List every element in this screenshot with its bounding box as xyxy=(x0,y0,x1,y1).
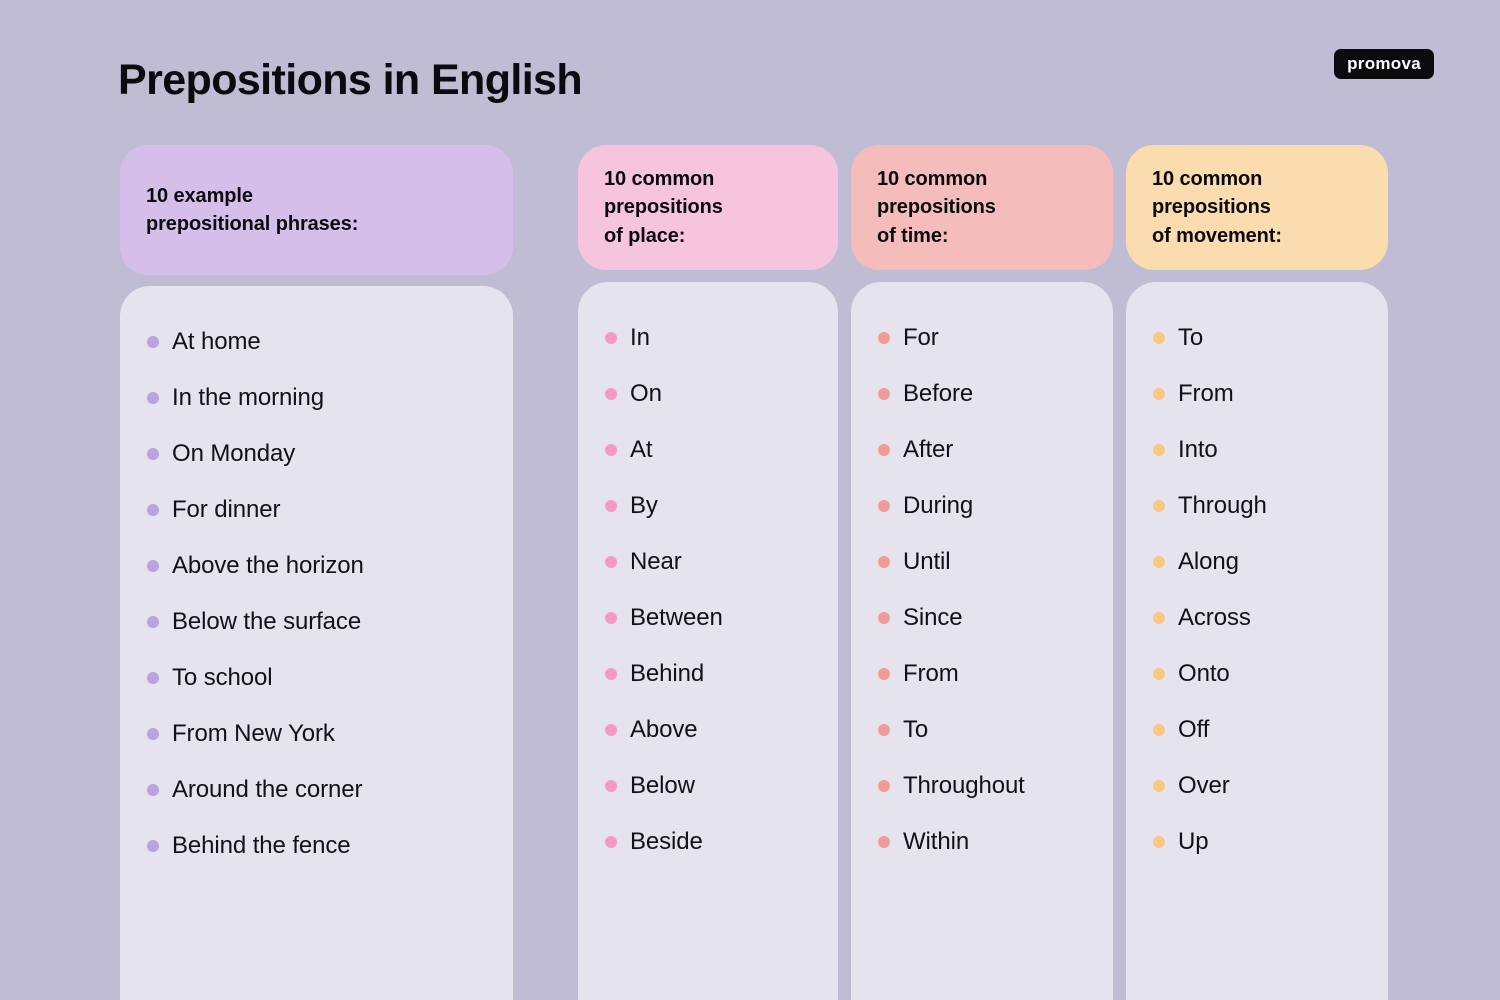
list-item-label: To xyxy=(1178,326,1203,350)
list-item: For xyxy=(851,310,1113,366)
bullet-icon xyxy=(605,332,617,344)
bullet-icon xyxy=(878,444,890,456)
list-item-label: Into xyxy=(1178,438,1218,462)
bullet-icon xyxy=(878,668,890,680)
bullet-icon xyxy=(147,504,159,516)
list-item: Near xyxy=(578,534,838,590)
bullet-icon xyxy=(147,560,159,572)
list-item: Behind xyxy=(578,646,838,702)
list-item: Until xyxy=(851,534,1113,590)
list-item: Above the horizon xyxy=(120,538,513,594)
bullet-icon xyxy=(147,672,159,684)
bullet-icon xyxy=(1153,836,1165,848)
list-item-label: By xyxy=(630,494,658,518)
list-item: From New York xyxy=(120,706,513,762)
list-item-label: Throughout xyxy=(903,774,1025,798)
list-item: Between xyxy=(578,590,838,646)
list-item-label: Until xyxy=(903,550,951,574)
list-item: Off xyxy=(1126,702,1388,758)
list-item-label: Up xyxy=(1178,830,1208,854)
list-item-label: In the morning xyxy=(172,386,324,410)
bullet-icon xyxy=(147,728,159,740)
column-header-card-3: 10 common prepositions of movement: xyxy=(1126,145,1388,270)
bullet-icon xyxy=(1153,388,1165,400)
bullet-icon xyxy=(605,500,617,512)
column-body-card-0: At homeIn the morningOn MondayFor dinner… xyxy=(120,286,513,1000)
bullet-icon xyxy=(605,388,617,400)
infographic-page: Prepositions in English promova 10 examp… xyxy=(0,0,1500,1000)
list-item: During xyxy=(851,478,1113,534)
bullet-icon xyxy=(1153,724,1165,736)
bullet-icon xyxy=(878,836,890,848)
list-item: To school xyxy=(120,650,513,706)
bullet-icon xyxy=(1153,332,1165,344)
preposition-list-2: ForBeforeAfterDuringUntilSinceFromToThro… xyxy=(851,310,1113,870)
list-item-label: Below xyxy=(630,774,695,798)
list-item-label: Since xyxy=(903,606,963,630)
bullet-icon xyxy=(605,668,617,680)
list-item: Around the corner xyxy=(120,762,513,818)
column-body-card-2: ForBeforeAfterDuringUntilSinceFromToThro… xyxy=(851,282,1113,1000)
column-header-card-2: 10 common prepositions of time: xyxy=(851,145,1113,270)
bullet-icon xyxy=(147,336,159,348)
list-item-label: At xyxy=(630,438,652,462)
list-item-label: Beside xyxy=(630,830,703,854)
list-item-label: Above the horizon xyxy=(172,554,364,578)
list-item: Into xyxy=(1126,422,1388,478)
list-item-label: Over xyxy=(1178,774,1230,798)
list-item: To xyxy=(1126,310,1388,366)
list-item-label: From xyxy=(903,662,959,686)
bullet-icon xyxy=(605,444,617,456)
bullet-icon xyxy=(878,388,890,400)
list-item-label: From New York xyxy=(172,722,335,746)
page-title: Prepositions in English xyxy=(118,56,582,105)
list-item-label: Near xyxy=(630,550,682,574)
list-item: Over xyxy=(1126,758,1388,814)
column-heading-1: 10 common prepositions of place: xyxy=(578,165,737,250)
bullet-icon xyxy=(147,616,159,628)
list-item: After xyxy=(851,422,1113,478)
list-item-label: Before xyxy=(903,382,973,406)
list-item: Below the surface xyxy=(120,594,513,650)
list-item-label: Above xyxy=(630,718,698,742)
list-item-label: Between xyxy=(630,606,723,630)
list-item-label: Onto xyxy=(1178,662,1230,686)
bullet-icon xyxy=(605,780,617,792)
list-item-label: Behind xyxy=(630,662,704,686)
preposition-list-0: At homeIn the morningOn MondayFor dinner… xyxy=(120,314,513,874)
preposition-list-3: ToFromIntoThroughAlongAcrossOntoOffOverU… xyxy=(1126,310,1388,870)
preposition-list-1: InOnAtByNearBetweenBehindAboveBelowBesid… xyxy=(578,310,838,870)
list-item: Through xyxy=(1126,478,1388,534)
list-item: Beside xyxy=(578,814,838,870)
list-item-label: Across xyxy=(1178,606,1251,630)
list-item: From xyxy=(851,646,1113,702)
list-item-label: On Monday xyxy=(172,442,295,466)
bullet-icon xyxy=(1153,668,1165,680)
bullet-icon xyxy=(1153,556,1165,568)
list-item-label: To school xyxy=(172,666,273,690)
column-body-card-3: ToFromIntoThroughAlongAcrossOntoOffOverU… xyxy=(1126,282,1388,1000)
list-item: Throughout xyxy=(851,758,1113,814)
list-item-label: At home xyxy=(172,330,261,354)
bullet-icon xyxy=(605,724,617,736)
list-item-label: From xyxy=(1178,382,1234,406)
list-item-label: Within xyxy=(903,830,969,854)
list-item-label: Through xyxy=(1178,494,1267,518)
bullet-icon xyxy=(147,392,159,404)
column-header-card-0: 10 example prepositional phrases: xyxy=(120,145,513,275)
bullet-icon xyxy=(147,840,159,852)
bullet-icon xyxy=(147,784,159,796)
list-item: Behind the fence xyxy=(120,818,513,874)
list-item: Above xyxy=(578,702,838,758)
list-item: Across xyxy=(1126,590,1388,646)
list-item: Up xyxy=(1126,814,1388,870)
list-item-label: To xyxy=(903,718,928,742)
column-heading-3: 10 common prepositions of movement: xyxy=(1126,165,1296,250)
list-item: Below xyxy=(578,758,838,814)
list-item-label: After xyxy=(903,438,953,462)
bullet-icon xyxy=(878,612,890,624)
bullet-icon xyxy=(1153,500,1165,512)
list-item: Since xyxy=(851,590,1113,646)
list-item-label: For dinner xyxy=(172,498,280,522)
column-heading-2: 10 common prepositions of time: xyxy=(851,165,1010,250)
list-item: In xyxy=(578,310,838,366)
list-item-label: On xyxy=(630,382,662,406)
column-body-card-1: InOnAtByNearBetweenBehindAboveBelowBesid… xyxy=(578,282,838,1000)
list-item: At home xyxy=(120,314,513,370)
bullet-icon xyxy=(878,556,890,568)
bullet-icon xyxy=(605,612,617,624)
list-item: From xyxy=(1126,366,1388,422)
list-item-label: Around the corner xyxy=(172,778,362,802)
list-item: At xyxy=(578,422,838,478)
bullet-icon xyxy=(1153,612,1165,624)
bullet-icon xyxy=(1153,780,1165,792)
list-item-label: Below the surface xyxy=(172,610,361,634)
column-header-card-1: 10 common prepositions of place: xyxy=(578,145,838,270)
bullet-icon xyxy=(1153,444,1165,456)
column-heading-0: 10 example prepositional phrases: xyxy=(120,182,372,239)
list-item: On Monday xyxy=(120,426,513,482)
bullet-icon xyxy=(147,448,159,460)
bullet-icon xyxy=(878,332,890,344)
bullet-icon xyxy=(878,780,890,792)
list-item: In the morning xyxy=(120,370,513,426)
bullet-icon xyxy=(878,724,890,736)
list-item: Before xyxy=(851,366,1113,422)
list-item-label: During xyxy=(903,494,973,518)
bullet-icon xyxy=(605,836,617,848)
list-item: For dinner xyxy=(120,482,513,538)
list-item-label: Along xyxy=(1178,550,1239,574)
list-item-label: Behind the fence xyxy=(172,834,351,858)
list-item-label: For xyxy=(903,326,939,350)
list-item: To xyxy=(851,702,1113,758)
list-item-label: Off xyxy=(1178,718,1209,742)
list-item: Onto xyxy=(1126,646,1388,702)
bullet-icon xyxy=(605,556,617,568)
list-item-label: In xyxy=(630,326,650,350)
list-item: Along xyxy=(1126,534,1388,590)
list-item: On xyxy=(578,366,838,422)
list-item: Within xyxy=(851,814,1113,870)
promova-logo: promova xyxy=(1334,49,1434,79)
bullet-icon xyxy=(878,500,890,512)
list-item: By xyxy=(578,478,838,534)
